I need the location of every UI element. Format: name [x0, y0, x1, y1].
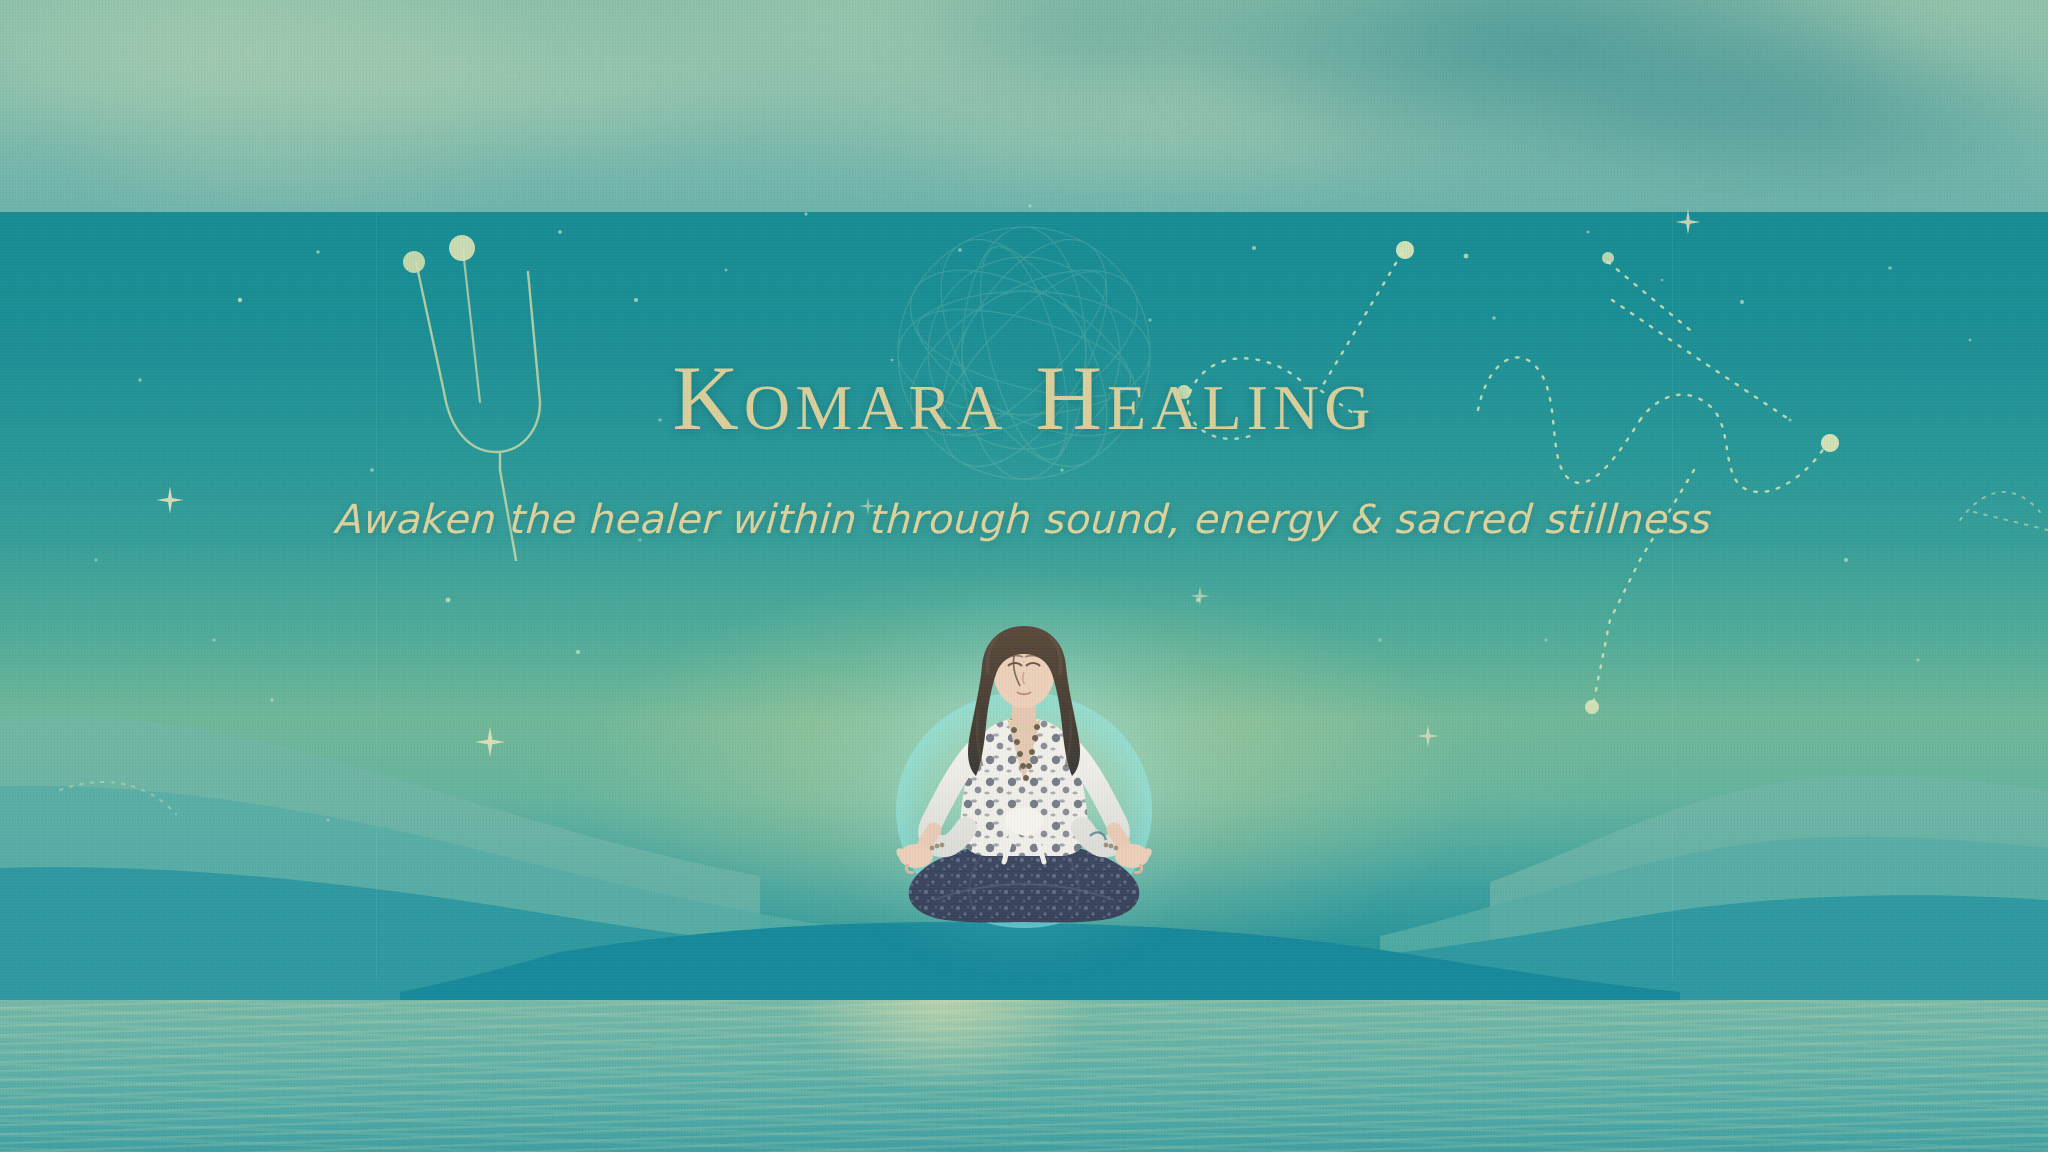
water-light-reflection: [752, 980, 1132, 1152]
meditating-figure: [814, 600, 1234, 960]
banner-stage: Komara Healing Awaken the healer within …: [0, 0, 2048, 1152]
tagline: Awaken the healer within through sound, …: [0, 498, 2048, 542]
banner-seam-left: [376, 212, 377, 980]
banner-seam-right: [1672, 212, 1673, 980]
cloud-shape: [60, 110, 540, 220]
water-surface: [0, 980, 2048, 1152]
page-title: Komara Healing: [0, 352, 2048, 444]
cloud-shadow: [1560, 30, 2048, 190]
